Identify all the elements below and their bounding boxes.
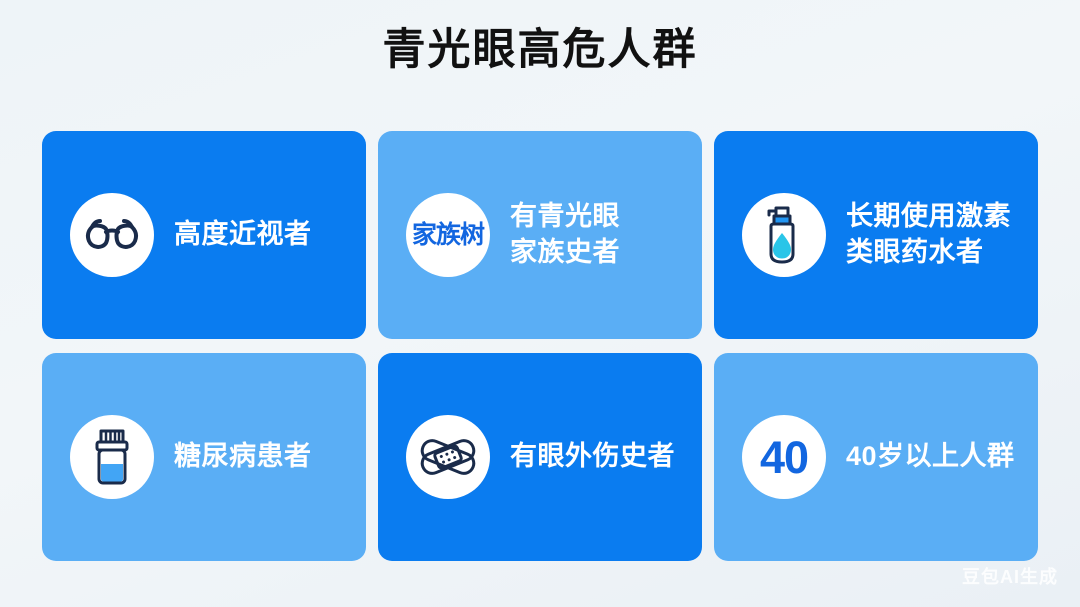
age-number-badge: 40 (760, 435, 808, 480)
badge-family-tree: 家族树 (406, 193, 490, 277)
medicine-bottle-icon (88, 426, 136, 488)
dropper-bottle-icon (760, 204, 808, 266)
risk-card-diabetes[interactable]: 糖尿病患者 (42, 353, 366, 561)
risk-card-label: 长期使用激素 类眼药水者 (846, 199, 1011, 270)
watermark: 豆包AI生成 (962, 563, 1058, 589)
badge-eye-trauma (406, 415, 490, 499)
family-tree-badge: 家族树 (412, 223, 484, 248)
page-title: 青光眼高危人群 (0, 26, 1080, 75)
title-section: 青光眼高危人群 (0, 0, 1080, 75)
risk-card-label: 有青光眼 家族史者 (510, 199, 620, 270)
risk-card-family-history[interactable]: 家族树 有青光眼 家族史者 (378, 131, 702, 339)
glasses-icon (83, 218, 141, 252)
risk-card-steroid-eyedrops[interactable]: 长期使用激素 类眼药水者 (714, 131, 1038, 339)
badge-age-40: 40 (742, 415, 826, 499)
risk-card-label: 高度近视者 (174, 217, 312, 253)
badge-diabetes (70, 415, 154, 499)
risk-card-label: 40岁以上人群 (846, 439, 1015, 475)
risk-group-grid: 高度近视者 家族树 有青光眼 家族史者 (42, 131, 1038, 561)
risk-card-over-40[interactable]: 40 40岁以上人群 (714, 353, 1038, 561)
badge-high-myopia (70, 193, 154, 277)
bandage-icon (417, 428, 479, 486)
badge-steroid-eyedrops (742, 193, 826, 277)
risk-card-label: 有眼外伤史者 (510, 439, 675, 475)
risk-card-eye-trauma[interactable]: 有眼外伤史者 (378, 353, 702, 561)
risk-card-label: 糖尿病患者 (174, 439, 312, 475)
risk-card-high-myopia[interactable]: 高度近视者 (42, 131, 366, 339)
